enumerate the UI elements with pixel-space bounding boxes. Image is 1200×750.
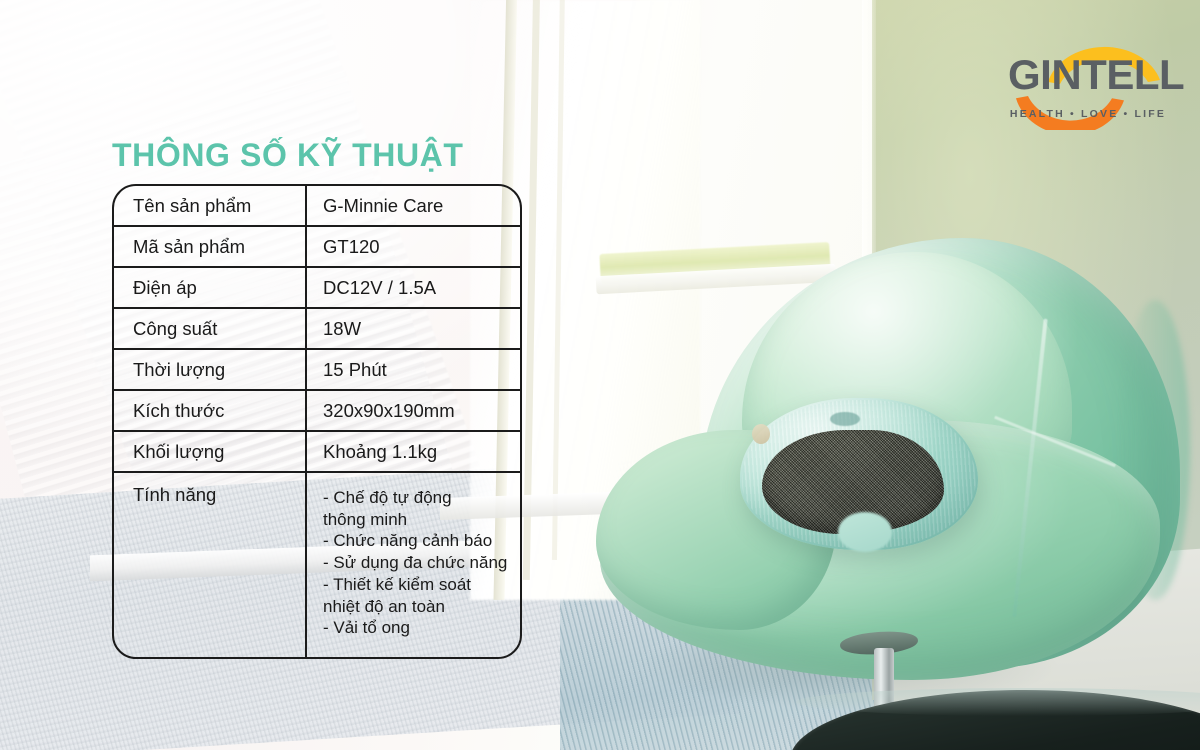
gintell-logo: GINTELL HEALTH • LOVE • LIFE xyxy=(1008,32,1168,134)
list-item: - Chế độ tự động thông minh xyxy=(323,487,507,531)
specification-table: Tên sản phẩm G-Minnie Care Mã sản phẩm G… xyxy=(112,184,522,659)
page-title: THÔNG SỐ KỸ THUẬT xyxy=(112,137,464,174)
spec-value: 15 Phút xyxy=(307,350,520,389)
massage-pillow-notch xyxy=(838,512,892,552)
table-row: Kích thước 320x90x190mm xyxy=(114,391,520,432)
massage-pillow-tag xyxy=(752,424,770,444)
list-item: - Sử dụng đa chức năng xyxy=(323,552,507,574)
table-row-features: Tính năng - Chế độ tự động thông minh - … xyxy=(114,473,520,657)
table-row: Thời lượng 15 Phút xyxy=(114,350,520,391)
massage-pillow-logo-mark xyxy=(830,412,860,426)
spec-value: DC12V / 1.5A xyxy=(307,268,520,307)
spec-label: Tính năng xyxy=(114,473,307,657)
list-item: - Thiết kế kiểm soát nhiệt độ an toàn xyxy=(323,574,507,618)
logo-tagline: HEALTH • LOVE • LIFE xyxy=(1008,108,1168,120)
spec-label: Kích thước xyxy=(114,391,307,430)
spec-label: Mã sản phẩm xyxy=(114,227,307,266)
logo-wordmark: GINTELL xyxy=(1008,54,1168,96)
list-item: - Vải tổ ong xyxy=(323,617,507,639)
spec-label: Công suất xyxy=(114,309,307,348)
table-row: Điện áp DC12V / 1.5A xyxy=(114,268,520,309)
table-row: Tên sản phẩm G-Minnie Care xyxy=(114,186,520,227)
spec-value: Khoảng 1.1kg xyxy=(307,432,520,471)
list-item: - Chức năng cảnh báo xyxy=(323,530,507,552)
table-row: Công suất 18W xyxy=(114,309,520,350)
product-spec-slide: GINTELL HEALTH • LOVE • LIFE THÔNG SỐ KỸ… xyxy=(0,0,1200,750)
spec-value: 18W xyxy=(307,309,520,348)
spec-value: GT120 xyxy=(307,227,520,266)
spec-value-features: - Chế độ tự động thông minh - Chức năng … xyxy=(307,473,520,657)
table-row: Mã sản phẩm GT120 xyxy=(114,227,520,268)
spec-value: 320x90x190mm xyxy=(307,391,520,430)
spec-label: Khối lượng xyxy=(114,432,307,471)
feature-list: - Chế độ tự động thông minh - Chức năng … xyxy=(323,481,507,649)
spec-label: Tên sản phẩm xyxy=(114,186,307,225)
table-row: Khối lượng Khoảng 1.1kg xyxy=(114,432,520,473)
spec-label: Thời lượng xyxy=(114,350,307,389)
spec-label: Điện áp xyxy=(114,268,307,307)
spec-value: G-Minnie Care xyxy=(307,186,520,225)
